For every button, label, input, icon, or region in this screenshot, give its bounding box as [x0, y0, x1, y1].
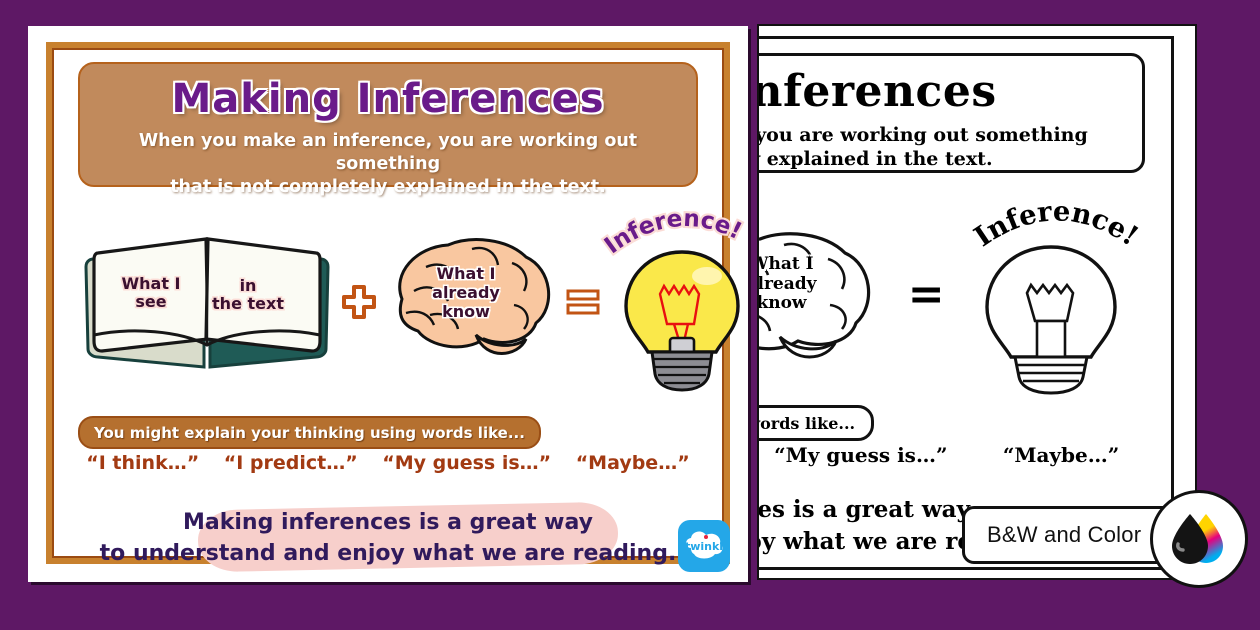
open-book-icon: What I see in the text — [72, 227, 342, 377]
phrase-list: “I think…” “I predict…” “My guess is…” “… — [74, 452, 702, 474]
bw-lightbulb-icon: Inference! — [963, 207, 1138, 382]
book-label-left-line-2: see — [108, 293, 194, 311]
bw-inference-word: Inference! — [968, 195, 1142, 253]
subtitle-line-1: When you make an inference, you are work… — [106, 130, 670, 176]
closing-line-1: Making inferences is a great way — [92, 508, 684, 539]
brain-label-line-1: What I — [406, 265, 526, 284]
phrase-item: “I think…” — [86, 452, 199, 474]
closing-block: Making inferences is a great way to unde… — [92, 500, 684, 580]
brain-icon: What I already know — [376, 227, 566, 377]
thinking-words-banner: You might explain your thinking using wo… — [78, 416, 541, 449]
lightbulb-icon: Inference! — [600, 210, 760, 395]
book-label-left: What I see — [108, 275, 194, 312]
phrase-item: “I predict…” — [224, 452, 358, 474]
bw-brain-label-line-2: already — [757, 275, 842, 295]
phrase-item: “Maybe…” — [576, 452, 690, 474]
bw-brain-label-line-1: What I — [757, 255, 842, 275]
subtitle-line-2: that is not completely explained in the … — [106, 176, 670, 199]
book-label-right: in the text — [200, 277, 296, 314]
bw-phrase-item: “Maybe…” — [1003, 443, 1119, 467]
page-title: Making Inferences — [80, 76, 696, 122]
book-label-left-line-1: What I — [108, 275, 194, 293]
inference-word: Inference! — [600, 206, 746, 259]
title-band: Making Inferences When you make an infer… — [78, 62, 698, 187]
bw-brain-label: What I already know — [757, 255, 842, 314]
svg-text:Inference!: Inference! — [600, 206, 746, 259]
brain-label-line-2: already — [406, 284, 526, 303]
book-label-right-line-1: in — [200, 277, 296, 295]
bw-banner: You might explain your thinking using wo… — [757, 405, 874, 441]
brain-label: What I already know — [406, 265, 526, 322]
bw-brain-label-line-3: know — [757, 294, 842, 314]
bw-brain-icon: What I already know — [757, 219, 890, 369]
twinkl-wordmark: twinkl — [685, 540, 723, 553]
plus-operator-icon — [342, 285, 376, 319]
bw-subtitle-line-2: that is not completely explained in the … — [757, 147, 1142, 171]
equals-operator-icon — [566, 289, 600, 315]
bw-equals-operator: = — [908, 269, 945, 320]
ink-drop-icon — [1150, 490, 1248, 588]
inference-word-label: Inference! — [600, 206, 765, 266]
color-version-sheet: Making Inferences When you make an infer… — [28, 26, 748, 582]
phrase-item: “My guess is…” — [382, 452, 551, 474]
subtitle: When you make an inference, you are work… — [80, 130, 696, 198]
book-label-right-line-2: the text — [200, 295, 296, 313]
poster-border-frame: Making Inferences When you make an infer… — [46, 42, 730, 564]
bw-title-band: Making Inferences When you make an infer… — [757, 53, 1145, 173]
bw-page-title: Making Inferences — [757, 66, 1142, 117]
bw-and-color-label: B&W and Color — [965, 522, 1141, 548]
equation-row: What I see in the text — [66, 206, 710, 398]
bw-subtitle: When you make an inference, you are work… — [757, 123, 1142, 172]
bw-version-sheet: Making Inferences When you make an infer… — [757, 24, 1197, 580]
bw-equation-row: + What I already know = — [757, 199, 1147, 389]
bw-phrase-list: “I think…” “I predict…” “My guess is…” “… — [757, 443, 1147, 467]
brain-label-line-3: know — [406, 303, 526, 322]
bw-subtitle-line-1: When you make an inference, you are work… — [757, 123, 1142, 147]
bw-phrase-item: “My guess is…” — [774, 443, 947, 467]
bw-inner-frame: Making Inferences When you make an infer… — [757, 36, 1174, 570]
closing-line-2: to understand and enjoy what we are read… — [92, 539, 684, 570]
svg-text:Inference!: Inference! — [968, 195, 1142, 253]
twinkl-logo: twinkl — [678, 520, 730, 572]
closing-text: Making inferences is a great way to unde… — [92, 500, 684, 570]
